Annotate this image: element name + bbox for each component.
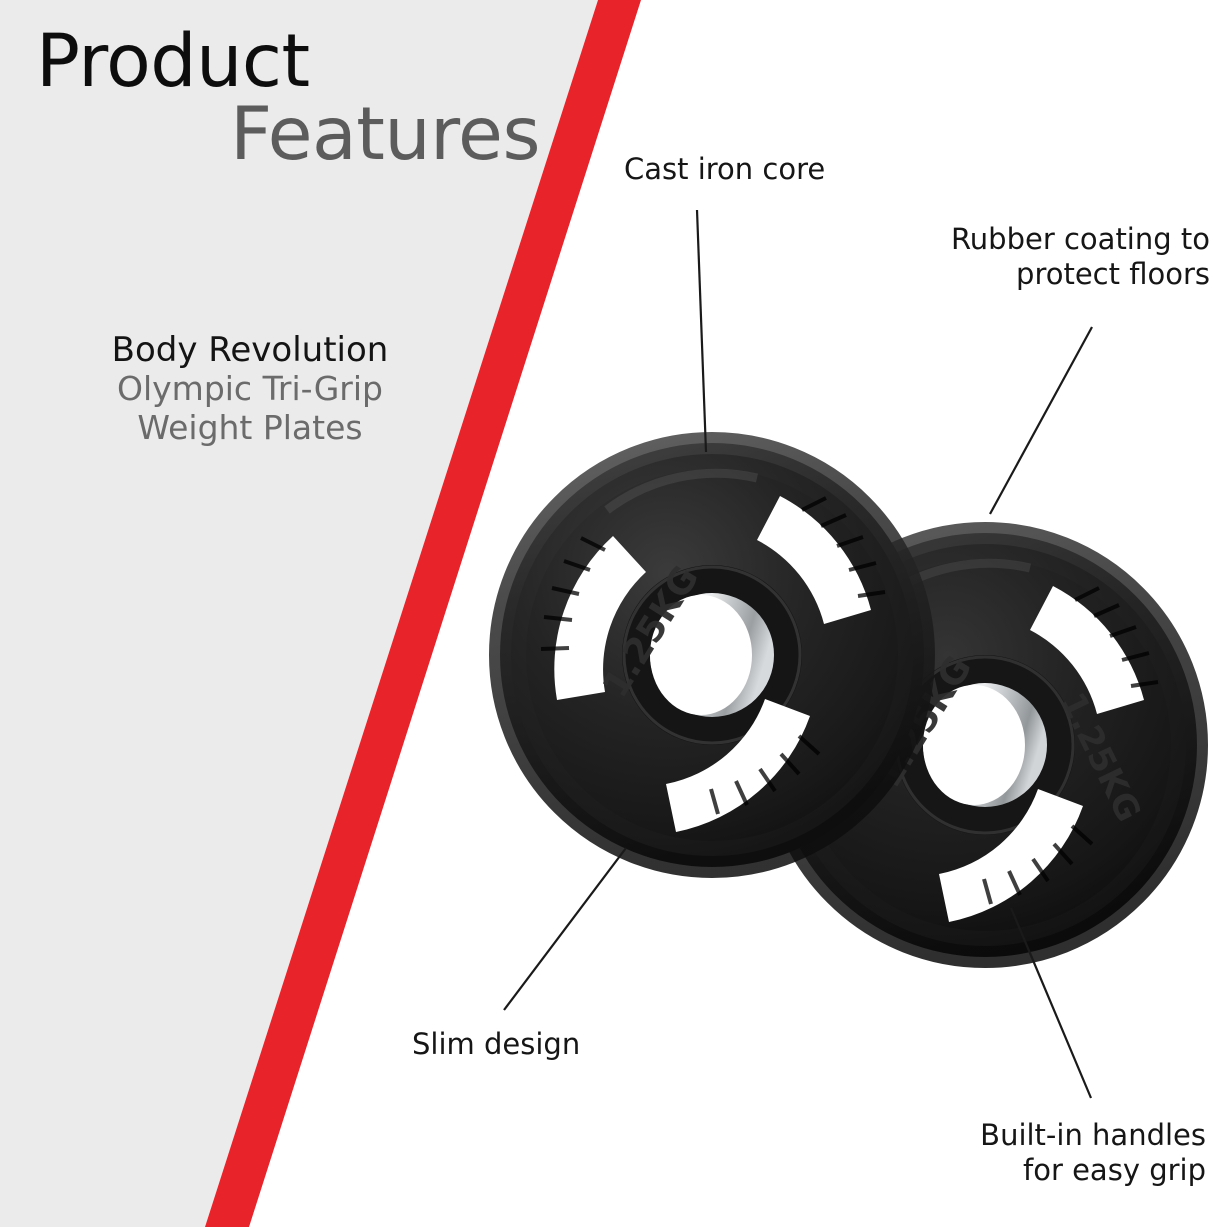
weight-plates-image: 1.25KG 1.25KG — [0, 0, 1214, 1227]
callout-rubber-coating: Rubber coating to protect floors — [880, 222, 1210, 293]
product-features-infographic: Product Features Body Revolution Olympic… — [0, 0, 1214, 1227]
callout-slim-design: Slim design — [412, 1027, 580, 1062]
plate-left: 1.25KG — [500, 443, 924, 867]
callout-cast-iron-core: Cast iron core — [624, 152, 825, 187]
callout-built-in-handles: Built-in handles for easy grip — [890, 1118, 1206, 1189]
